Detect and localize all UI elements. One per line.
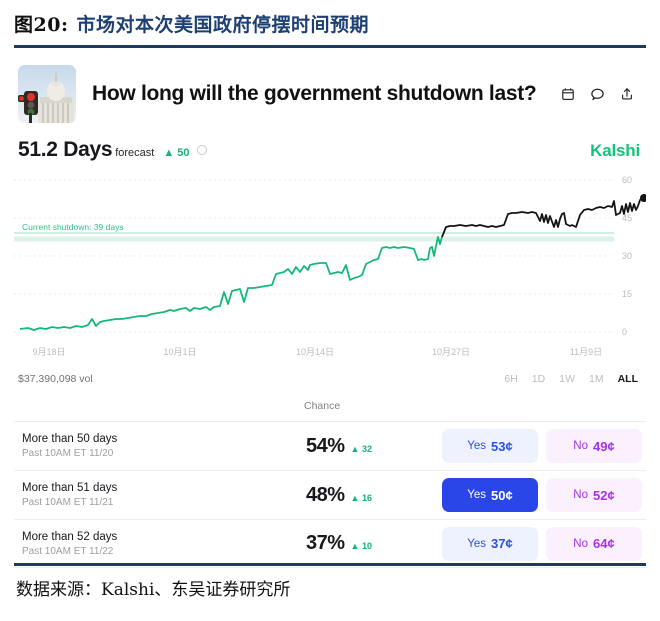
x-tick-3: 10月27日 <box>432 345 470 358</box>
forecast-row: 51.2 Days forecast ▲ 50 Kalshi <box>14 124 646 162</box>
volume-text: $37,390,098 vol <box>18 373 93 385</box>
chance-value: 54% <box>306 435 345 458</box>
chart-end-marker <box>640 194 646 202</box>
table-row[interactable]: More than 51 days Past 10AM ET 11/21 48%… <box>14 470 646 519</box>
forecast-value: 51.2 Days <box>18 138 112 162</box>
no-side-label: No <box>573 489 588 501</box>
figure-title: 市场对本次美国政府停摆时间预期 <box>76 10 369 37</box>
forecast-delta: ▲ 50 <box>163 147 189 159</box>
chance-value: 48% <box>306 484 345 507</box>
calendar-icon[interactable] <box>561 87 575 101</box>
figure-label: 图20: <box>14 10 68 37</box>
no-price: 49¢ <box>593 439 615 454</box>
market-chance: 48% ▲ 16 <box>266 484 441 507</box>
chart-y-labels: 60 45 30 15 0 <box>622 175 632 337</box>
market-subtitle: Past 10AM ET 11/22 <box>22 546 266 557</box>
card-header: How long will the government shutdown la… <box>14 58 646 124</box>
no-button[interactable]: No 49¢ <box>546 429 642 463</box>
table-row[interactable]: More than 50 days Past 10AM ET 11/20 54%… <box>14 421 646 470</box>
header-divider <box>14 45 646 48</box>
capitol-traffic-light-thumbnail <box>18 65 76 123</box>
x-tick-0: 9月18日 <box>32 345 65 358</box>
yes-price: 37¢ <box>491 536 513 551</box>
comment-icon[interactable] <box>590 87 605 102</box>
yes-price: 53¢ <box>491 439 513 454</box>
chance-delta: ▲ 16 <box>351 493 372 503</box>
x-tick-4: 11月9日 <box>570 345 602 358</box>
figure-header: 图20: 市场对本次美国政府停摆时间预期 <box>0 0 660 37</box>
x-tick-1: 10月1日 <box>163 345 196 358</box>
no-price: 64¢ <box>593 536 615 551</box>
price-chart[interactable]: 60 45 30 15 0 Current shutdown: 39 days <box>14 170 646 345</box>
chance-delta: ▲ 10 <box>351 541 372 551</box>
range-1m[interactable]: 1M <box>589 373 604 385</box>
chance-delta: ▲ 32 <box>351 444 372 454</box>
market-title: How long will the government shutdown la… <box>92 82 561 106</box>
yes-button[interactable]: Yes 37¢ <box>442 527 538 561</box>
forecast-label: forecast <box>115 147 154 159</box>
market-label: More than 52 days Past 10AM ET 11/22 <box>16 531 266 557</box>
info-icon[interactable] <box>197 145 207 155</box>
range-1d[interactable]: 1D <box>532 373 545 385</box>
card-header-icons <box>561 87 640 102</box>
svg-text:15: 15 <box>622 289 632 299</box>
no-button[interactable]: No 52¢ <box>546 478 642 512</box>
x-tick-2: 10月14日 <box>296 345 334 358</box>
market-name: More than 50 days <box>22 433 266 445</box>
market-label: More than 50 days Past 10AM ET 11/20 <box>16 433 266 459</box>
no-side-label: No <box>573 538 588 550</box>
yes-side-label: Yes <box>467 538 486 550</box>
yes-side-label: Yes <box>467 440 486 452</box>
chart-gridlines <box>14 180 614 332</box>
svg-text:45: 45 <box>622 213 632 223</box>
kalshi-market-card: How long will the government shutdown la… <box>14 58 646 563</box>
chance-value: 37% <box>306 532 345 555</box>
svg-text:30: 30 <box>622 251 632 261</box>
market-buttons: Yes 50¢ No 52¢ <box>442 478 644 512</box>
yes-button[interactable]: Yes 53¢ <box>442 429 538 463</box>
range-6h[interactable]: 6H <box>504 373 517 385</box>
chart-canvas: 60 45 30 15 0 Current shutdown: 39 days <box>14 170 646 345</box>
market-name: More than 51 days <box>22 482 266 494</box>
time-range-selector[interactable]: 6H 1D 1W 1M ALL <box>504 373 642 385</box>
range-all[interactable]: ALL <box>618 373 638 385</box>
share-icon[interactable] <box>620 87 634 101</box>
table-row[interactable]: More than 52 days Past 10AM ET 11/22 37%… <box>14 519 646 568</box>
svg-text:60: 60 <box>622 175 632 185</box>
chance-column-header: Chance <box>14 395 646 421</box>
market-chance: 37% ▲ 10 <box>266 532 441 555</box>
market-subtitle: Past 10AM ET 11/21 <box>22 497 266 508</box>
chart-x-axis: 9月18日 10月1日 10月14日 10月27日 11月9日 <box>14 345 646 363</box>
no-price: 52¢ <box>593 488 615 503</box>
market-buttons: Yes 53¢ No 49¢ <box>442 429 644 463</box>
market-chance: 54% ▲ 32 <box>266 435 441 458</box>
yes-side-label: Yes <box>467 489 486 501</box>
figure-source: 数据来源：Kalshi、东吴证券研究所 <box>0 566 660 600</box>
market-name: More than 52 days <box>22 531 266 543</box>
chance-label: Chance <box>304 400 340 412</box>
kalshi-logo: Kalshi <box>590 141 640 161</box>
series-below-threshold <box>20 237 442 330</box>
series-above-threshold <box>442 198 644 237</box>
market-buttons: Yes 37¢ No 64¢ <box>442 527 644 561</box>
market-subtitle: Past 10AM ET 11/20 <box>22 448 266 459</box>
svg-text:0: 0 <box>622 327 627 337</box>
range-1w[interactable]: 1W <box>559 373 575 385</box>
no-side-label: No <box>573 440 588 452</box>
threshold-annotation: Current shutdown: 39 days <box>22 222 124 232</box>
yes-price: 50¢ <box>491 488 513 503</box>
yes-button[interactable]: Yes 50¢ <box>442 478 538 512</box>
volume-range-row: $37,390,098 vol 6H 1D 1W 1M ALL <box>14 363 646 385</box>
market-label: More than 51 days Past 10AM ET 11/21 <box>16 482 266 508</box>
no-button[interactable]: No 64¢ <box>546 527 642 561</box>
